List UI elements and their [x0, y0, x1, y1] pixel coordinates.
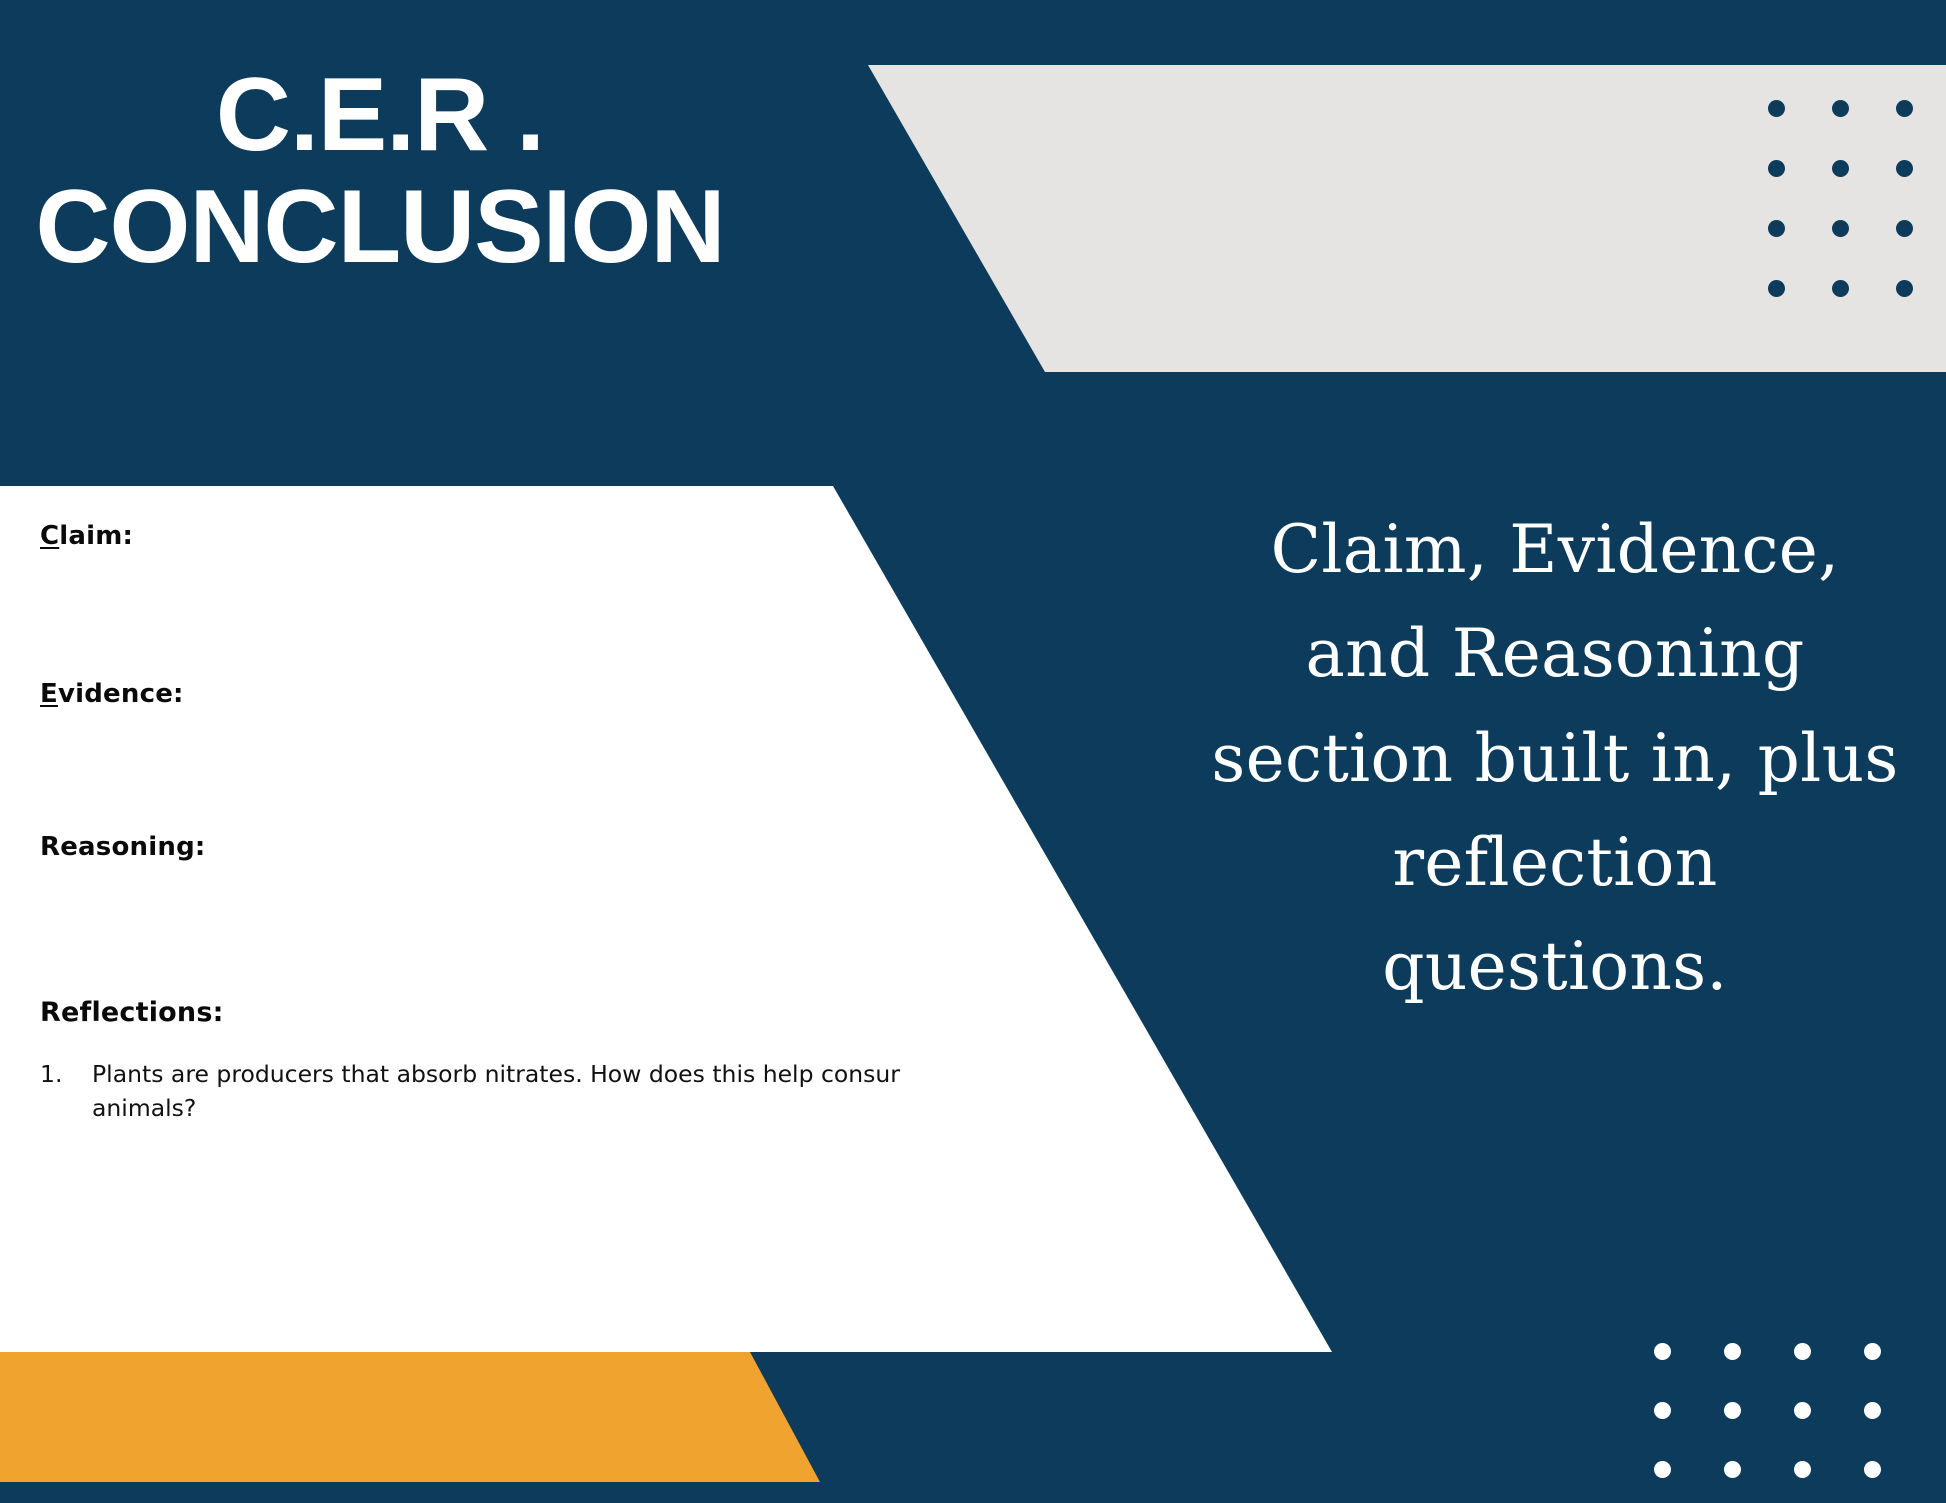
evidence-rest: vidence:: [58, 679, 184, 709]
reflection-question-number: 1.: [40, 1057, 92, 1091]
worksheet-heading-claim: Claim:: [40, 521, 133, 551]
claim-initial: C: [40, 521, 59, 551]
dot: [1768, 280, 1785, 297]
slide-caption: Claim, Evidence, and Reasoning section b…: [1210, 498, 1900, 1019]
dot-grid-top-right: [1768, 100, 1946, 340]
dot: [1724, 1461, 1741, 1478]
worksheet-heading-reasoning: Reasoning:: [40, 832, 205, 862]
dot: [1896, 220, 1913, 237]
dot: [1794, 1402, 1811, 1419]
dot: [1794, 1343, 1811, 1360]
dot: [1768, 160, 1785, 177]
dot: [1654, 1402, 1671, 1419]
dot: [1896, 280, 1913, 297]
claim-rest: laim:: [59, 521, 133, 551]
dot: [1864, 1461, 1881, 1478]
dot: [1724, 1402, 1741, 1419]
page-title: C.E.R . CONCLUSION: [0, 62, 760, 280]
dot: [1654, 1461, 1671, 1478]
dot: [1654, 1343, 1671, 1360]
worksheet-heading-reflections: Reflections:: [40, 997, 224, 1028]
reflection-question-item: 1. Plants are producers that absorb nitr…: [40, 1057, 900, 1125]
dot: [1832, 160, 1849, 177]
dot: [1832, 220, 1849, 237]
evidence-initial: E: [40, 679, 58, 709]
dot: [1864, 1402, 1881, 1419]
title-line-2: CONCLUSION: [0, 174, 760, 280]
dot: [1832, 100, 1849, 117]
dot: [1864, 1343, 1881, 1360]
reflection-question-text: Plants are producers that absorb nitrate…: [92, 1057, 900, 1125]
orange-accent-shape: [0, 1352, 820, 1482]
dot: [1794, 1461, 1811, 1478]
dot: [1768, 220, 1785, 237]
dot: [1724, 1343, 1741, 1360]
slide-canvas: C.E.R . CONCLUSION Claim: Evidence:: [0, 0, 1946, 1503]
title-line-1: C.E.R .: [0, 62, 760, 168]
dot: [1832, 280, 1849, 297]
worksheet-heading-evidence: Evidence:: [40, 679, 184, 709]
dot-grid-bottom-right: [1654, 1343, 1934, 1503]
dot: [1896, 160, 1913, 177]
worksheet-preview: Claim: Evidence: Reasoning: Reflections:…: [0, 486, 900, 1352]
dot: [1896, 100, 1913, 117]
dot: [1768, 100, 1785, 117]
